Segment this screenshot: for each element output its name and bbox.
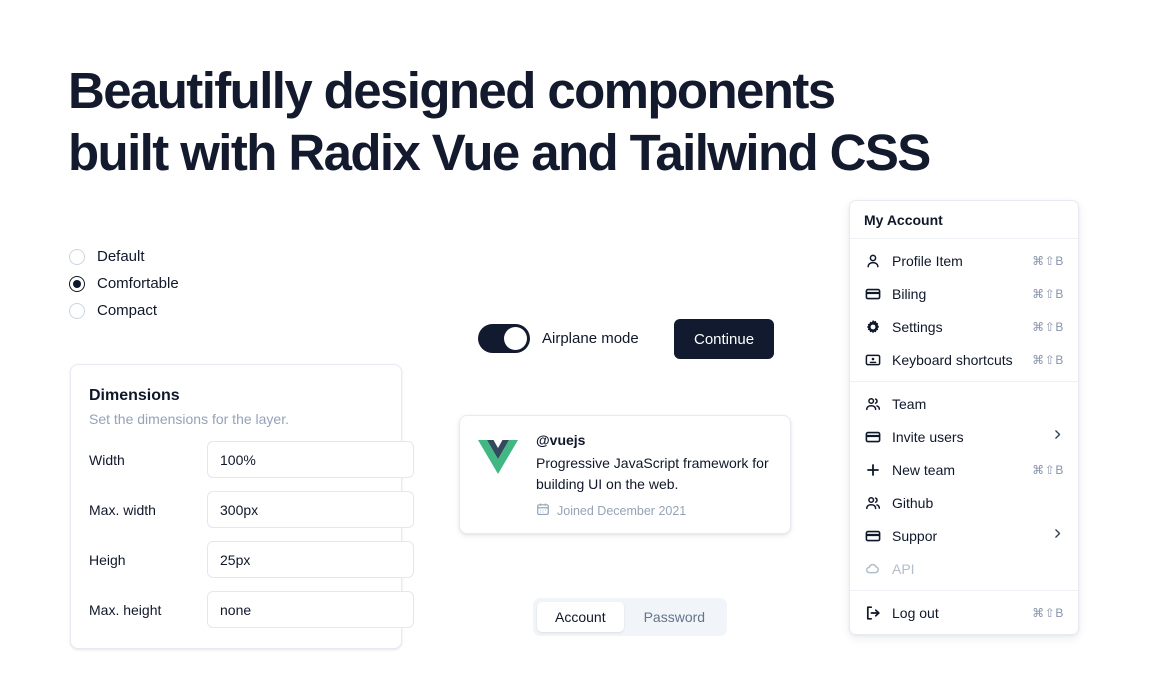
- field-label: Width: [89, 452, 207, 468]
- menu-item-shortcut: ⌘⇧B: [1032, 606, 1064, 620]
- vuejs-handle: @vuejs: [536, 432, 774, 448]
- users-icon: [864, 395, 881, 412]
- menu-item-label: Log out: [892, 605, 1021, 621]
- menu-item-label: API: [892, 561, 1053, 577]
- logout-icon: [864, 604, 881, 621]
- menu-item-label: Invite users: [892, 429, 1040, 445]
- radio-indicator-icon[interactable]: [69, 249, 85, 265]
- width-input[interactable]: [207, 441, 414, 478]
- tab-account[interactable]: Account: [537, 602, 624, 632]
- radio-group: Default Comfortable Compact: [69, 248, 179, 319]
- menu-group-team: Team Invite users: [850, 382, 1078, 590]
- field-label: Max. height: [89, 602, 207, 618]
- user-icon: [864, 252, 881, 269]
- chevron-right-icon: [1051, 428, 1064, 446]
- airplane-mode-row: Airplane mode: [478, 324, 639, 353]
- menu-item-invite-users[interactable]: Invite users: [850, 420, 1078, 453]
- max-height-input[interactable]: [207, 591, 414, 628]
- radio-option-default[interactable]: Default: [69, 248, 179, 265]
- joined-date: Joined December 2021: [557, 504, 686, 518]
- dimensions-description: Set the dimensions for the layer.: [89, 411, 383, 427]
- dimensions-field-height: Heigh: [89, 541, 383, 578]
- credit-card-icon: [864, 285, 881, 302]
- menu-item-label: Suppor: [892, 528, 1040, 544]
- menu-item-keyboard-shortcuts[interactable]: Keyboard shortcuts ⌘⇧B: [850, 343, 1078, 376]
- menu-item-label: Settings: [892, 319, 1021, 335]
- dimensions-title: Dimensions: [89, 387, 383, 405]
- menu-item-new-team[interactable]: New team ⌘⇧B: [850, 453, 1078, 486]
- gear-icon: [864, 318, 881, 335]
- tab-password[interactable]: Password: [626, 602, 723, 632]
- menu-item-settings[interactable]: Settings ⌘⇧B: [850, 310, 1078, 343]
- users-icon: [864, 494, 881, 511]
- cloud-icon: [864, 560, 881, 577]
- plus-icon: [864, 461, 881, 478]
- menu-group-session: Log out ⌘⇧B: [850, 591, 1078, 634]
- page-root: Beautifully designed components built wi…: [0, 0, 1152, 700]
- vuejs-description: Progressive JavaScript framework for bui…: [536, 453, 774, 495]
- page-title-line-2: built with Radix Vue and Tailwind CSS: [68, 122, 1018, 184]
- menu-item-label: New team: [892, 462, 1021, 478]
- menu-header: My Account: [850, 201, 1078, 238]
- field-label: Max. width: [89, 502, 207, 518]
- account-dropdown-menu: My Account Profile Item ⌘⇧B: [849, 200, 1079, 635]
- menu-item-api: API: [850, 552, 1078, 585]
- dimensions-field-max-width: Max. width: [89, 491, 383, 528]
- menu-item-billing[interactable]: Biling ⌘⇧B: [850, 277, 1078, 310]
- joined-row: Joined December 2021: [536, 502, 774, 519]
- height-input[interactable]: [207, 541, 414, 578]
- radio-option-comfortable[interactable]: Comfortable: [69, 275, 179, 292]
- menu-item-shortcut: ⌘⇧B: [1032, 254, 1064, 268]
- menu-item-label: Profile Item: [892, 253, 1021, 269]
- chevron-right-icon: [1051, 527, 1064, 545]
- menu-item-shortcut: ⌘⇧B: [1032, 463, 1064, 477]
- menu-item-label: Keyboard shortcuts: [892, 352, 1021, 368]
- menu-item-label: Team: [892, 396, 1053, 412]
- menu-item-shortcut: ⌘⇧B: [1032, 353, 1064, 367]
- dimensions-card: Dimensions Set the dimensions for the la…: [70, 364, 402, 649]
- page-title-line-1: Beautifully designed components: [68, 60, 1018, 122]
- menu-item-github[interactable]: Github: [850, 486, 1078, 519]
- menu-item-shortcut: ⌘⇧B: [1032, 320, 1064, 334]
- radio-indicator-icon[interactable]: [69, 303, 85, 319]
- vue-logo-icon: [476, 434, 520, 478]
- menu-item-team[interactable]: Team: [850, 387, 1078, 420]
- menu-item-support[interactable]: Suppor: [850, 519, 1078, 552]
- page-title: Beautifully designed components built wi…: [68, 60, 1018, 184]
- radio-label: Default: [97, 248, 145, 265]
- radio-option-compact[interactable]: Compact: [69, 302, 179, 319]
- radio-indicator-icon[interactable]: [69, 276, 85, 292]
- vuejs-hover-card: @vuejs Progressive JavaScript framework …: [459, 415, 791, 534]
- settings-tabs: Account Password: [533, 598, 727, 636]
- switch-knob: [504, 327, 527, 350]
- airplane-mode-label: Airplane mode: [542, 330, 639, 347]
- calendar-icon: [536, 502, 550, 519]
- hover-card-body: @vuejs Progressive JavaScript framework …: [536, 432, 774, 519]
- menu-item-log-out[interactable]: Log out ⌘⇧B: [850, 596, 1078, 629]
- radio-label: Comfortable: [97, 275, 179, 292]
- airplane-mode-switch[interactable]: [478, 324, 530, 353]
- dimensions-field-width: Width: [89, 441, 383, 478]
- field-label: Heigh: [89, 552, 207, 568]
- radio-label: Compact: [97, 302, 157, 319]
- hero-heading: Beautifully designed components built wi…: [68, 60, 1018, 184]
- menu-item-shortcut: ⌘⇧B: [1032, 287, 1064, 301]
- max-width-input[interactable]: [207, 491, 414, 528]
- menu-group-account: Profile Item ⌘⇧B Biling ⌘⇧B: [850, 239, 1078, 381]
- continue-button[interactable]: Continue: [674, 319, 774, 359]
- menu-item-label: Github: [892, 495, 1053, 511]
- menu-item-profile[interactable]: Profile Item ⌘⇧B: [850, 244, 1078, 277]
- menu-item-label: Biling: [892, 286, 1021, 302]
- credit-card-icon: [864, 428, 881, 445]
- keyboard-icon: [864, 351, 881, 368]
- credit-card-icon: [864, 527, 881, 544]
- dimensions-field-max-height: Max. height: [89, 591, 383, 628]
